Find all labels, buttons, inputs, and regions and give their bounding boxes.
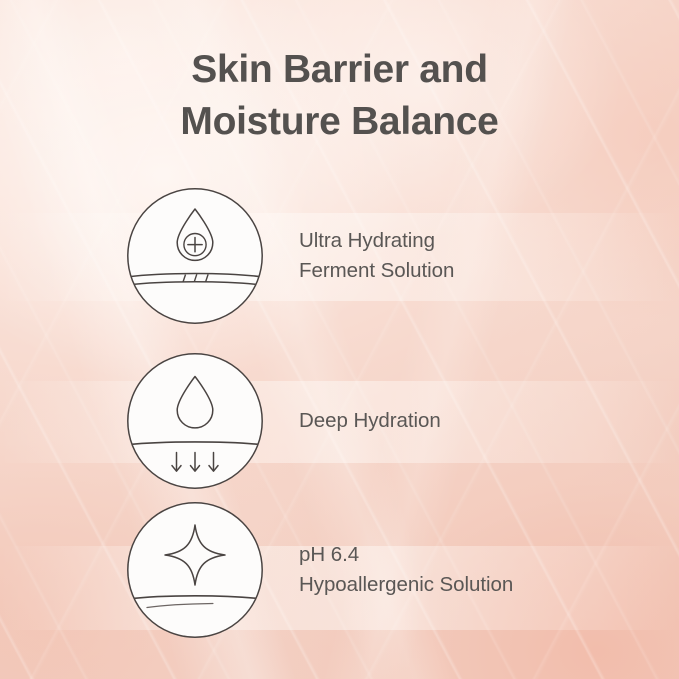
feature-label-1-line-1: Ultra Hydrating <box>299 226 454 256</box>
page-title-line-1: Skin Barrier and <box>0 44 679 96</box>
page-title: Skin Barrier and Moisture Balance <box>0 44 679 149</box>
droplet-plus-barrier-icon <box>125 186 265 326</box>
skincare-infographic: Skin Barrier and Moisture Balance <box>0 0 679 679</box>
feature-label-2-line-1: Deep Hydration <box>299 406 441 436</box>
feature-label-3-line-1: pH 6.4 <box>299 540 513 570</box>
sparkle-smooth-skin-icon <box>125 500 265 640</box>
feature-row-2: Deep Hydration <box>0 351 679 491</box>
page-title-line-2: Moisture Balance <box>0 96 679 148</box>
feature-label-1-line-2: Ferment Solution <box>299 256 454 286</box>
feature-label-3-line-2: Hypoallergenic Solution <box>299 570 513 600</box>
feature-label-1: Ultra Hydrating Ferment Solution <box>299 186 454 326</box>
feature-row-1: Ultra Hydrating Ferment Solution <box>0 186 679 326</box>
feature-label-2: Deep Hydration <box>299 351 441 491</box>
feature-label-3: pH 6.4 Hypoallergenic Solution <box>299 500 513 640</box>
droplet-down-arrows-icon <box>125 351 265 491</box>
feature-row-3: pH 6.4 Hypoallergenic Solution <box>0 500 679 640</box>
